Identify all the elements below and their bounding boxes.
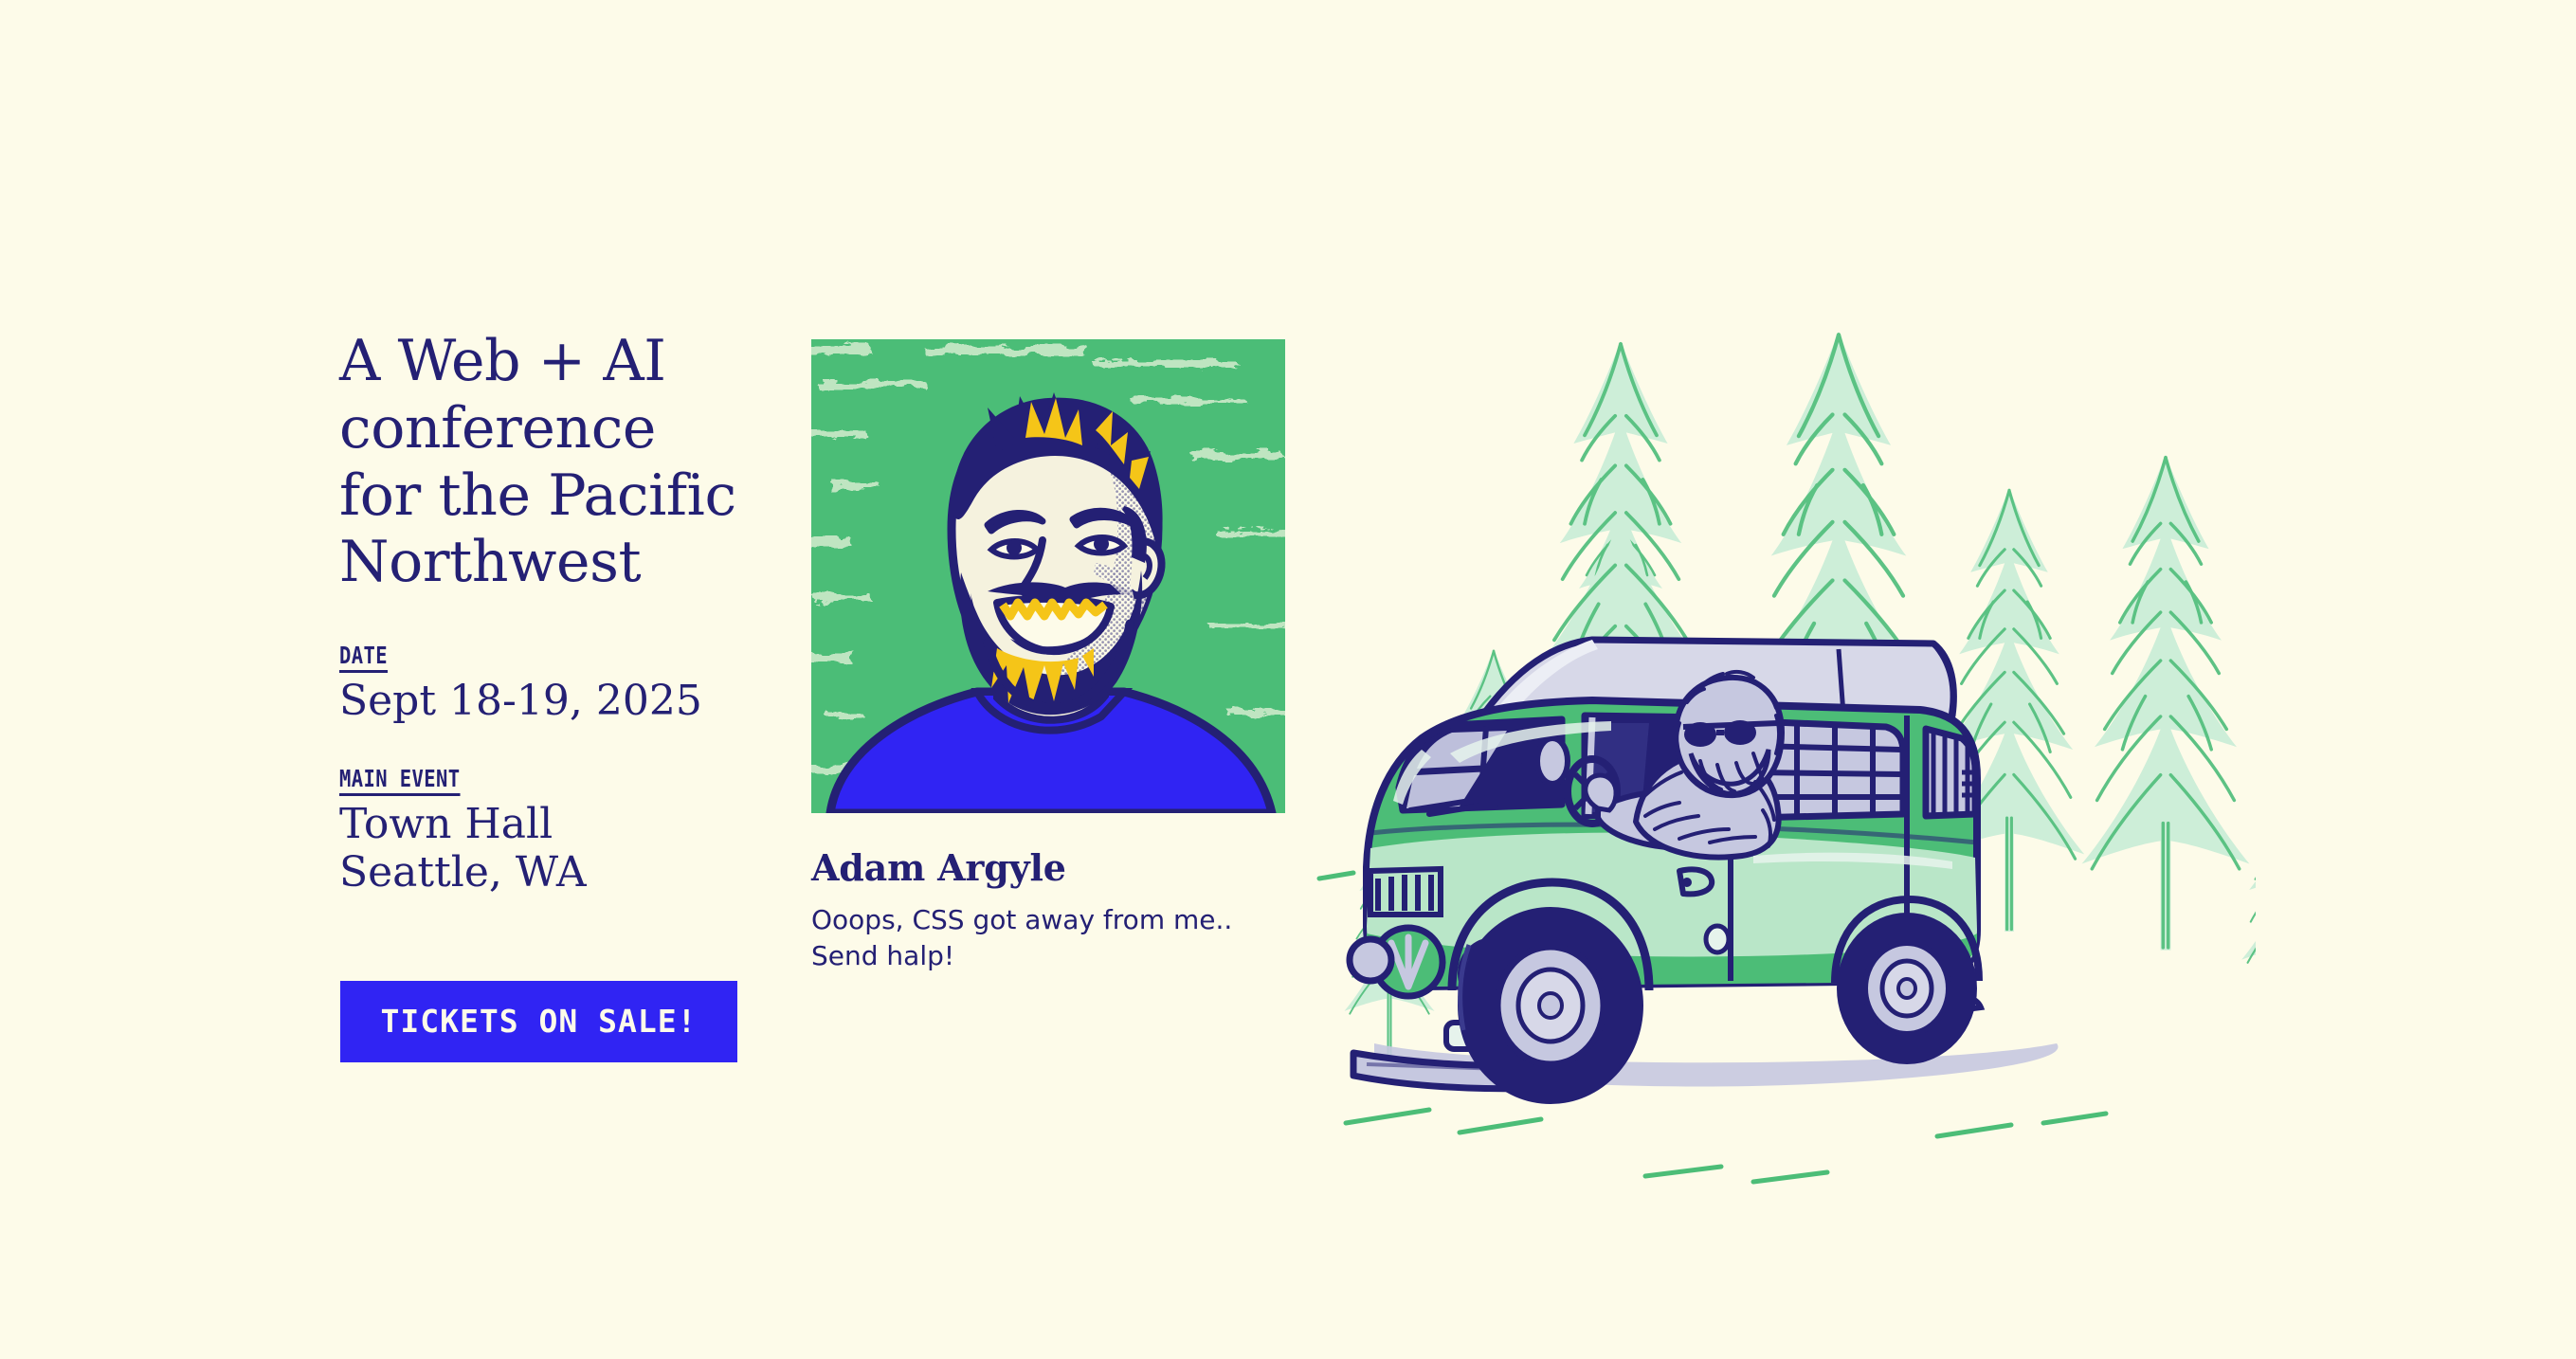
front-wheel <box>1458 907 1643 1104</box>
speaker-card[interactable]: Adam Argyle Ooops, CSS got away from me.… <box>811 339 1285 974</box>
main-event-label: MAIN EVENT <box>339 765 461 792</box>
date-label: DATE <box>339 642 388 669</box>
speaker-portrait-illustration <box>811 339 1285 813</box>
camper-van-illustration <box>1308 242 2256 1189</box>
date-value: Sept 18-19, 2025 <box>339 677 747 725</box>
poster-canvas: A Web + AI conference for the Pacific No… <box>0 0 2576 1359</box>
rear-wheel <box>1837 913 1977 1064</box>
page-title: A Web + AI conference for the Pacific No… <box>339 328 747 596</box>
speaker-description: Ooops, CSS got away from me.. Send halp! <box>811 902 1285 974</box>
vw-camper-van <box>1350 640 2058 1104</box>
speaker-name: Adam Argyle <box>811 846 1285 889</box>
main-event-value: Town Hall Seattle, WA <box>339 800 747 897</box>
camper-van-scene <box>1308 242 2256 1189</box>
main-event-block: MAIN EVENT Town Hall Seattle, WA <box>339 765 747 897</box>
date-block: DATE Sept 18-19, 2025 <box>339 642 747 725</box>
tickets-on-sale-button[interactable]: TICKETS ON SALE! <box>340 981 737 1062</box>
event-info-column: A Web + AI conference for the Pacific No… <box>339 328 747 897</box>
